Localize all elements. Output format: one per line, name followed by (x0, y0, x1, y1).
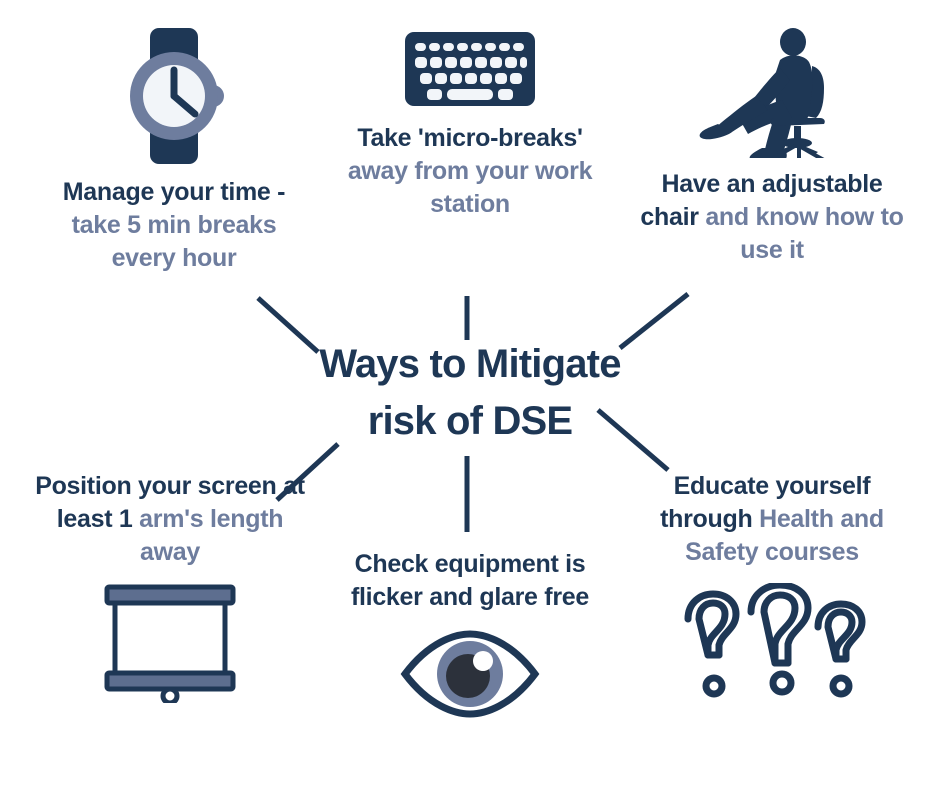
node-manage-your-time: Manage your time - take 5 min breaks eve… (38, 26, 310, 275)
node-label-questions: Educate yourself through Health and Safe… (628, 470, 916, 569)
node-label-watch: Manage your time - take 5 min breaks eve… (38, 176, 310, 275)
node-check-equipment: Check equipment is flicker and glare fre… (330, 548, 610, 720)
node-label-keyboard: Take 'micro-breaks' away from your work … (340, 122, 600, 221)
node-lead-text-eye: Check equipment is flicker and glare fre… (351, 550, 589, 611)
node-lead-text-keyboard: Take 'micro-breaks' (357, 124, 582, 152)
node-alt-text-chair: and know how to use it (705, 203, 903, 264)
node-position-your-screen: Position your screen at least 1 arm's le… (30, 470, 310, 703)
node-label-chair: Have an adjustable chair and know how to… (636, 168, 908, 267)
node-take-micro-breaks: Take 'micro-breaks' away from your work … (340, 26, 600, 221)
infographic-canvas: Manage your time - take 5 min breaks eve… (0, 0, 940, 788)
question-marks-icon (628, 583, 916, 699)
center-title-line-2: risk of DSE (230, 393, 710, 450)
wristwatch-icon (38, 26, 310, 166)
node-educate-yourself: Educate yourself through Health and Safe… (628, 470, 916, 699)
node-lead-text-watch: Manage your time - (63, 178, 285, 206)
node-label-eye: Check equipment is flicker and glare fre… (330, 548, 610, 614)
node-label-screen: Position your screen at least 1 arm's le… (30, 470, 310, 569)
keyboard-icon (340, 26, 600, 112)
node-alt-text-screen: arm's length away (139, 505, 283, 566)
projector-screen-icon (30, 583, 310, 703)
center-title-line-1: Ways to Mitigate (230, 336, 710, 393)
eye-icon (330, 628, 610, 720)
person-in-office-chair-icon (636, 26, 908, 158)
node-alt-text-watch: take 5 min breaks every hour (72, 211, 277, 272)
center-title: Ways to Mitigate risk of DSE (230, 336, 710, 450)
node-alt-text-keyboard: away from your work station (348, 157, 592, 218)
node-adjustable-chair: Have an adjustable chair and know how to… (636, 26, 908, 267)
